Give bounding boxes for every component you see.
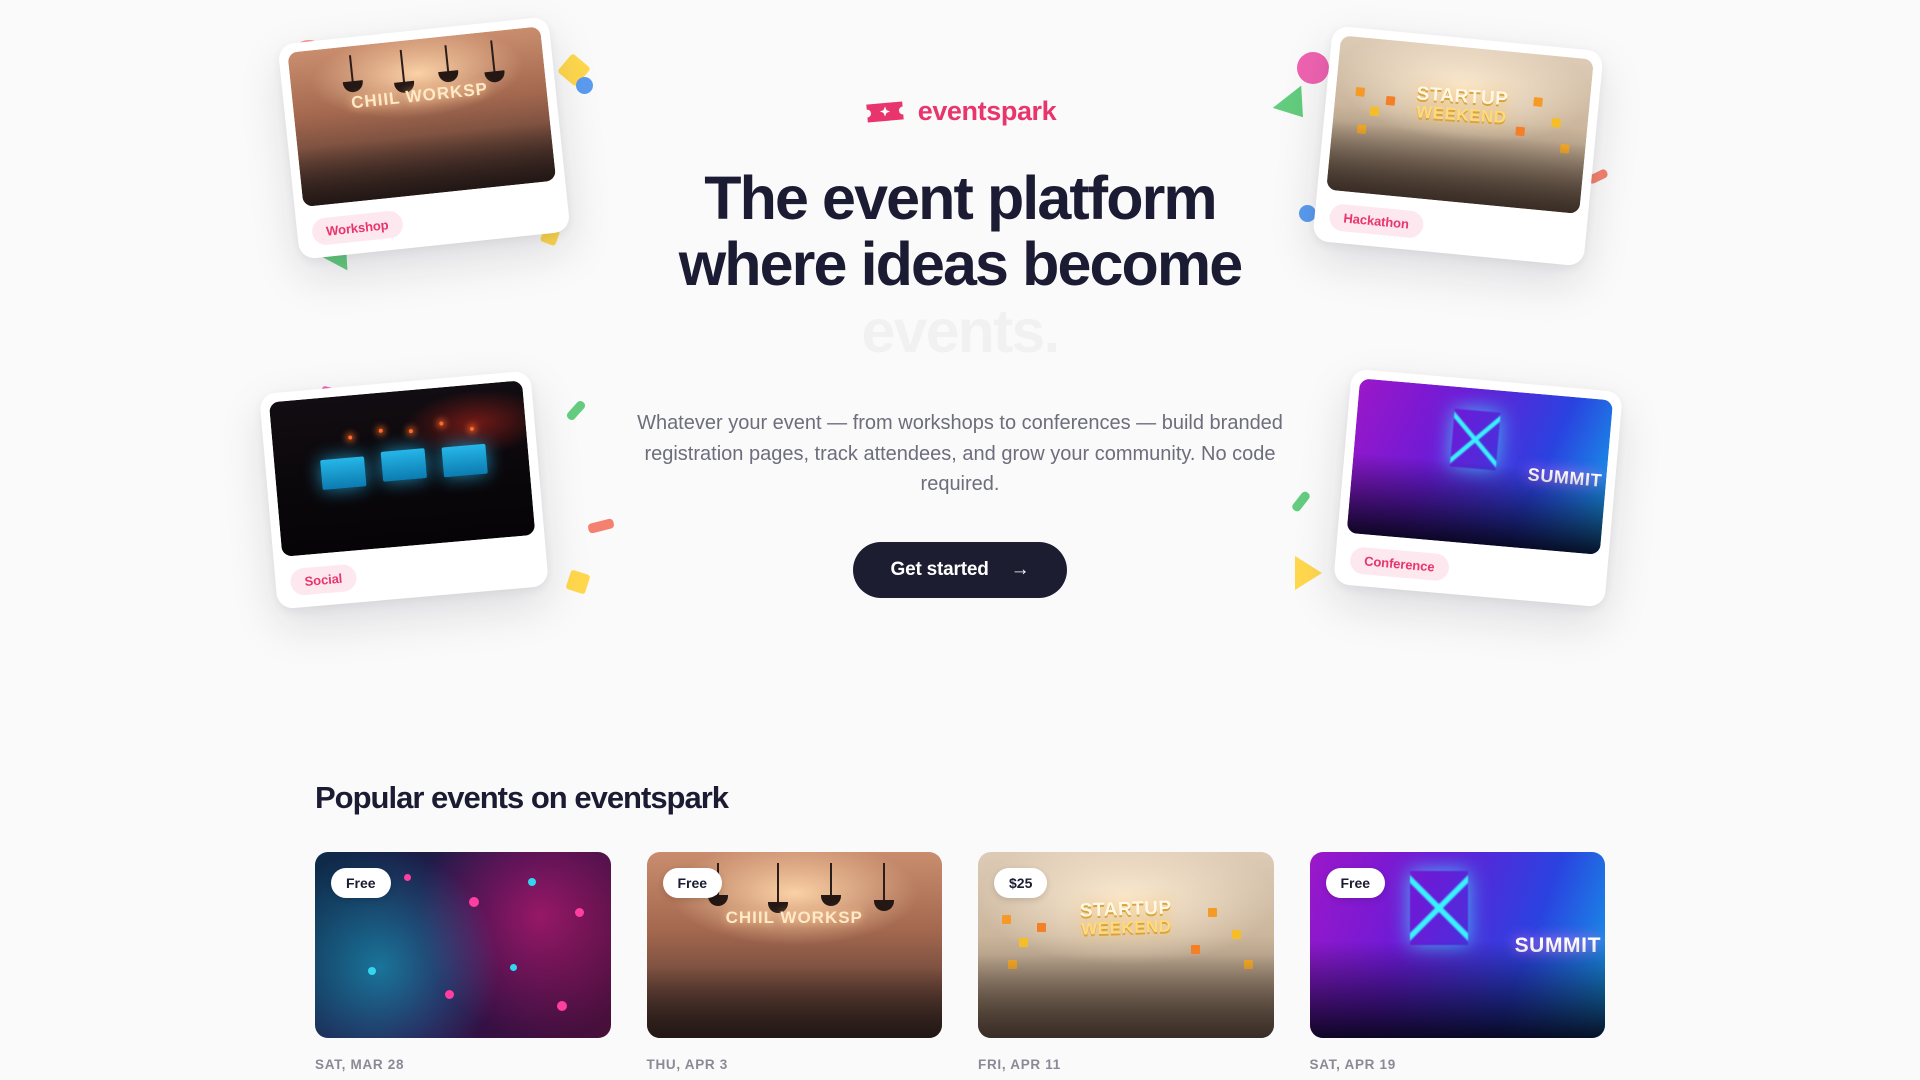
event-date: SAT, MAR 28 <box>315 1057 611 1072</box>
decor-circle-pink-tr <box>1297 52 1329 84</box>
ticket-sparkle-icon <box>864 98 906 126</box>
event-thumbnail: CHIIL WORKSP Free <box>647 852 943 1038</box>
event-card[interactable]: SUMMIT Free SAT, APR 19 Vibe coding summ… <box>1310 852 1606 1080</box>
floating-card-hackathon[interactable]: STARTUP WEEKEND Hackathon <box>1312 25 1603 266</box>
brand-logo[interactable]: eventspark <box>600 96 1320 127</box>
price-badge: Free <box>1326 868 1386 898</box>
price-badge: Free <box>331 868 391 898</box>
section-title: Popular events on eventspark <box>315 760 1605 816</box>
arrow-right-icon: → <box>1011 560 1030 579</box>
floating-card-thumb: SUMMIT <box>1347 378 1614 555</box>
scene-neon-line2: WEEKEND <box>1080 918 1172 938</box>
event-card[interactable]: CHIIL WORKSP Free THU, APR 3 Chill cowor… <box>647 852 943 1080</box>
get-started-button[interactable]: Get started → <box>853 542 1068 598</box>
decor-square-yellow-bl <box>565 569 590 594</box>
event-card[interactable]: STARTUP WEEKEND $25 FRI, APR 11 Startup … <box>978 852 1274 1080</box>
floating-card-thumb: CHIIL WORKSP <box>287 26 556 207</box>
scene-neon-text: STARTUP WEEKEND <box>1415 85 1509 127</box>
decor-circle-blue-tl <box>576 77 593 94</box>
event-date: SAT, APR 19 <box>1310 1057 1606 1072</box>
event-card[interactable]: Free SAT, MAR 28 AI hackathon <box>315 852 611 1080</box>
page-title: The event platform where ideas become ev… <box>600 165 1320 364</box>
get-started-label: Get started <box>891 559 989 581</box>
headline-line-2: where ideas become <box>679 230 1242 298</box>
floating-card-thumb <box>269 380 536 557</box>
decor-bar-green-bl <box>565 399 586 421</box>
scene-coworking-space: CHIIL WORKSP <box>287 26 556 207</box>
headline-line-1: The event platform <box>704 164 1216 232</box>
category-badge: Social <box>289 563 357 596</box>
price-badge: Free <box>663 868 723 898</box>
event-thumbnail: SUMMIT Free <box>1310 852 1606 1038</box>
scene-neon-line2: WEEKEND <box>1415 104 1508 127</box>
price-badge: $25 <box>994 868 1047 898</box>
scene-neon-text: STARTUP WEEKEND <box>1079 899 1172 938</box>
event-grid: Free SAT, MAR 28 AI hackathon CHIIL WORK… <box>315 852 1605 1080</box>
scene-startup-weekend: STARTUP WEEKEND <box>1326 35 1594 214</box>
floating-card-social[interactable]: Social <box>259 371 549 610</box>
hero-subtitle: Whatever your event — from workshops to … <box>600 408 1320 499</box>
event-date: FRI, APR 11 <box>978 1057 1274 1072</box>
scene-neon-text: CHIIL WORKSP <box>726 908 863 928</box>
scene-dark-lounge <box>269 380 536 557</box>
hero-section: CHIIL WORKSP Workshop STARTUP WEEKEND <box>0 0 1920 760</box>
event-thumbnail: STARTUP WEEKEND $25 <box>978 852 1274 1038</box>
floating-card-conference[interactable]: SUMMIT Conference <box>1333 369 1623 608</box>
hero-cta-wrap: Get started → <box>600 542 1320 598</box>
hero-content: eventspark The event platform where idea… <box>600 96 1320 598</box>
event-date: THU, APR 3 <box>647 1057 943 1072</box>
category-badge: Workshop <box>311 209 404 245</box>
scene-neon-text: CHIIL WORKSP <box>350 79 489 113</box>
event-thumbnail: Free <box>315 852 611 1038</box>
category-badge: Conference <box>1349 546 1450 581</box>
scene-neon-summit: SUMMIT <box>1347 378 1614 555</box>
brand-name: eventspark <box>918 96 1057 127</box>
scene-neon-text: SUMMIT <box>1527 465 1603 492</box>
headline-line-3-ghost: events. <box>600 298 1320 364</box>
floating-card-workshop[interactable]: CHIIL WORKSP Workshop <box>277 16 570 259</box>
scene-neon-text: SUMMIT <box>1515 934 1601 958</box>
category-badge: Hackathon <box>1328 203 1424 239</box>
popular-events-section: Popular events on eventspark <box>0 760 1920 1080</box>
floating-card-thumb: STARTUP WEEKEND <box>1326 35 1594 214</box>
popular-events-container: Popular events on eventspark <box>315 760 1605 1080</box>
